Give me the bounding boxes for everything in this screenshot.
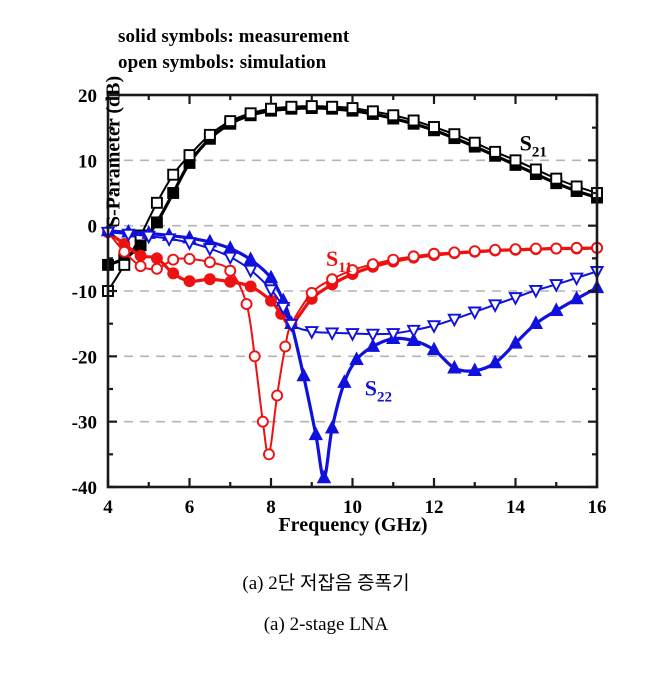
y-tick-label: 0: [88, 217, 98, 238]
data-marker: [511, 155, 521, 165]
data-marker: [168, 268, 178, 278]
y-tick-label: 10: [78, 151, 97, 172]
series-S21-meas: [103, 103, 602, 270]
caption-english: (a) 2-stage LNA: [0, 615, 652, 634]
data-marker: [310, 429, 321, 440]
data-marker: [348, 103, 358, 113]
data-marker: [449, 129, 459, 139]
data-marker: [551, 174, 561, 184]
data-marker: [136, 251, 146, 261]
series-S11-meas: [103, 227, 602, 329]
data-marker: [205, 257, 215, 267]
data-marker: [388, 255, 398, 265]
data-marker: [307, 101, 317, 111]
x-axis-label: Frequency (GHz): [108, 514, 598, 537]
data-marker: [368, 259, 378, 269]
data-marker: [490, 245, 500, 255]
data-marker: [245, 266, 256, 277]
data-marker: [429, 122, 439, 132]
data-marker: [250, 351, 260, 361]
data-marker: [327, 102, 337, 112]
data-marker: [258, 417, 268, 427]
data-marker: [318, 472, 329, 483]
data-marker: [531, 164, 541, 174]
data-marker: [246, 281, 256, 291]
data-marker: [225, 116, 235, 126]
data-marker: [470, 138, 480, 148]
data-marker: [572, 181, 582, 191]
y-tick-label: -30: [72, 413, 97, 434]
data-marker: [168, 188, 178, 198]
curve-label-S21: S21: [520, 131, 547, 161]
data-marker: [272, 391, 282, 401]
y-tick-label: 20: [78, 86, 97, 107]
data-marker: [339, 376, 350, 387]
y-tick-label: -10: [72, 282, 97, 303]
caption-korean: (a) 2단 저잡음 증폭기: [0, 574, 652, 593]
data-marker: [205, 130, 215, 140]
series-S11-sim: [103, 227, 602, 459]
data-marker: [152, 217, 162, 227]
data-marker: [246, 108, 256, 118]
data-marker: [327, 422, 338, 433]
data-marker: [152, 253, 162, 263]
data-marker: [205, 274, 215, 284]
series-S22-sim: [102, 228, 602, 341]
chart-plot-area: -40-30-20-100102046810121416 S21S11S22 S…: [0, 0, 652, 560]
data-marker: [136, 261, 146, 271]
data-marker: [572, 243, 582, 253]
curve-line: [108, 232, 597, 334]
data-marker: [225, 253, 236, 264]
curve-label-S22: S22: [365, 376, 392, 406]
data-marker: [511, 244, 521, 254]
data-marker: [327, 274, 337, 284]
data-marker: [152, 264, 162, 274]
data-marker: [409, 115, 419, 125]
data-marker: [225, 266, 235, 276]
data-marker: [298, 370, 309, 381]
figure-caption: (a) 2단 저잡음 증폭기 (a) 2-stage LNA: [0, 574, 652, 634]
data-marker: [152, 198, 162, 208]
data-marker: [266, 104, 276, 114]
data-marker: [388, 110, 398, 120]
data-marker: [225, 277, 235, 287]
data-marker: [185, 254, 195, 264]
data-marker: [168, 255, 178, 265]
data-marker: [185, 276, 195, 286]
data-marker: [531, 244, 541, 254]
curve-label-S11: S11: [326, 246, 352, 276]
s-parameter-chart: -40-30-20-100102046810121416 S21S11S22: [0, 0, 652, 560]
data-marker: [429, 249, 439, 259]
data-marker: [307, 288, 317, 298]
y-tick-label: -40: [72, 478, 97, 499]
data-marker: [168, 170, 178, 180]
data-marker: [551, 244, 561, 254]
y-axis-label: S-Parameter (dB): [103, 32, 126, 272]
y-tick-label: -20: [72, 347, 97, 368]
data-marker: [409, 251, 419, 261]
data-marker: [368, 106, 378, 116]
data-marker: [449, 247, 459, 257]
data-marker: [264, 449, 274, 459]
data-marker: [490, 147, 500, 157]
data-marker: [286, 102, 296, 112]
data-marker: [470, 246, 480, 256]
data-marker: [242, 299, 252, 309]
data-marker: [280, 342, 290, 352]
gridlines: [108, 160, 597, 421]
data-marker: [185, 150, 195, 160]
